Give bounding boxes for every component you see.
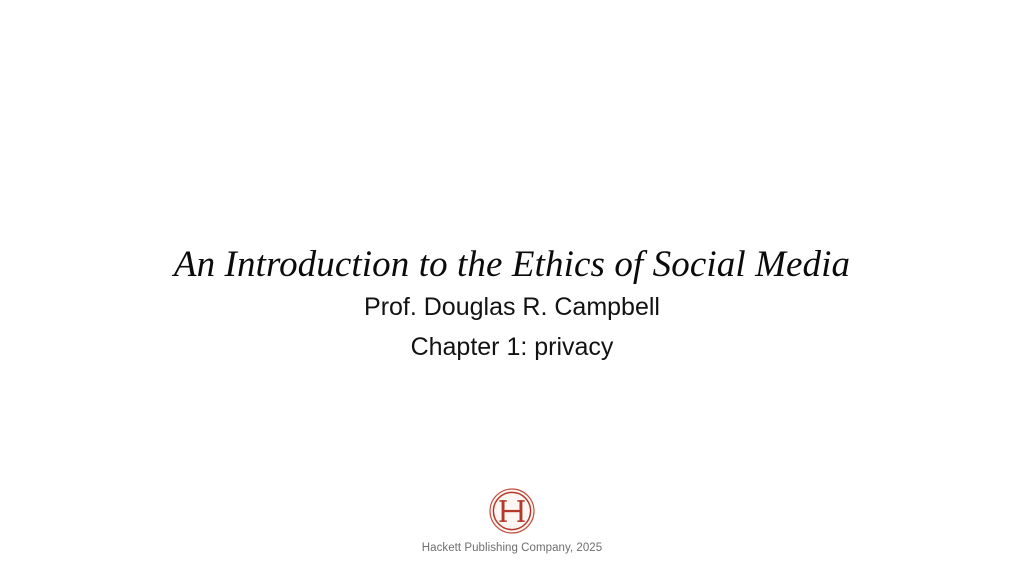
title-slide: An Introduction to the Ethics of Social … xyxy=(0,0,1024,576)
author-line: Prof. Douglas R. Campbell xyxy=(0,287,1024,327)
title-block: An Introduction to the Ethics of Social … xyxy=(0,243,1024,367)
hackett-h-monogram-icon xyxy=(489,488,535,534)
publisher-logo xyxy=(0,488,1024,534)
chapter-line: Chapter 1: privacy xyxy=(0,327,1024,367)
page-title: An Introduction to the Ethics of Social … xyxy=(0,243,1024,287)
publisher-caption: Hackett Publishing Company, 2025 xyxy=(0,541,1024,556)
